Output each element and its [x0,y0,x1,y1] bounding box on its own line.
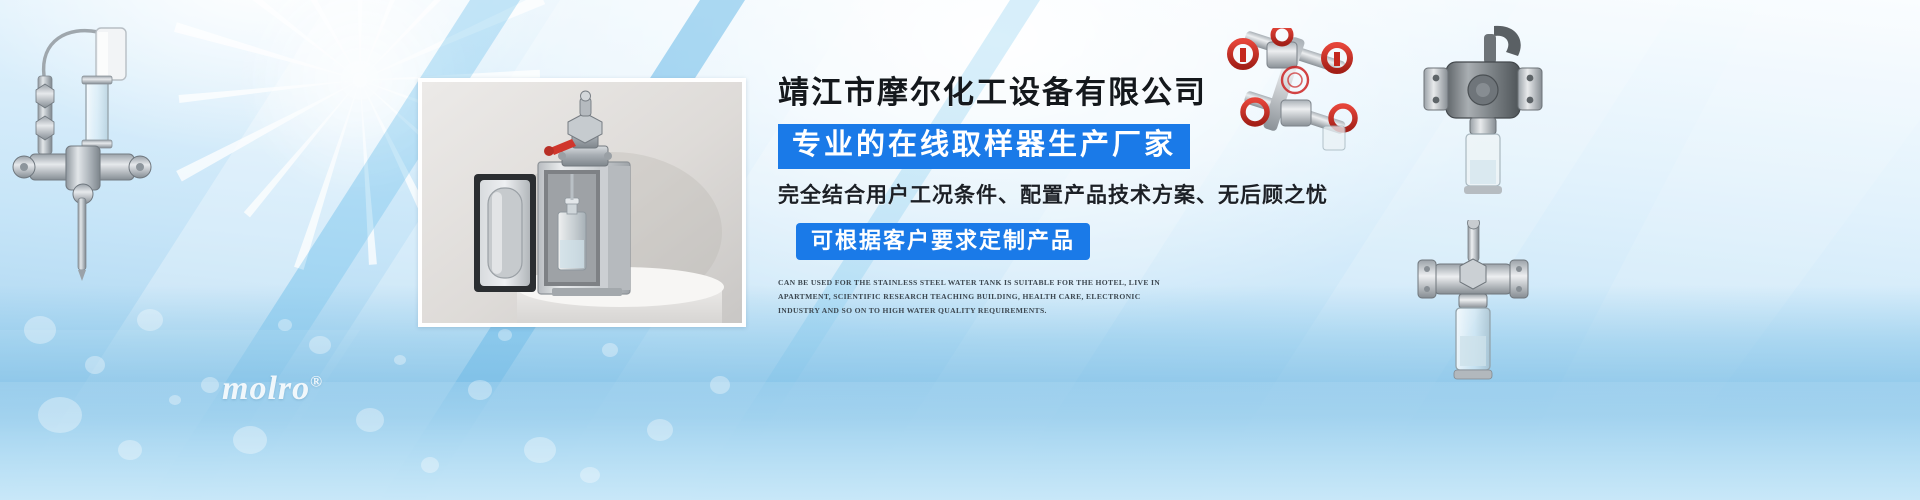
company-name: 靖江市摩尔化工设备有限公司 [778,76,1398,110]
product-photo [422,82,742,323]
headline-highlight: 专业的在线取样器生产厂家 [778,124,1190,168]
brand-watermark-text: molro [222,370,310,407]
subheadline-text: 完全结合用户工况条件、配置产品技术方案、无后顾之忧 [778,183,1398,208]
product-photo-illustration [422,82,742,323]
english-caption: CAN BE USED FOR THE STAINLESS STEEL WATE… [778,276,1178,318]
promo-banner: 靖江市摩尔化工设备有限公司 专业的在线取样器生产厂家 完全结合用户工况条件、配置… [0,0,1920,500]
product-photo-card [418,78,746,327]
registered-trademark-icon: ® [310,374,323,391]
brand-watermark: molro® [222,370,323,408]
banner-text-block: 靖江市摩尔化工设备有限公司 专业的在线取样器生产厂家 完全结合用户工况条件、配置… [778,76,1398,318]
customization-badge: 可根据客户要求定制产品 [796,223,1090,260]
